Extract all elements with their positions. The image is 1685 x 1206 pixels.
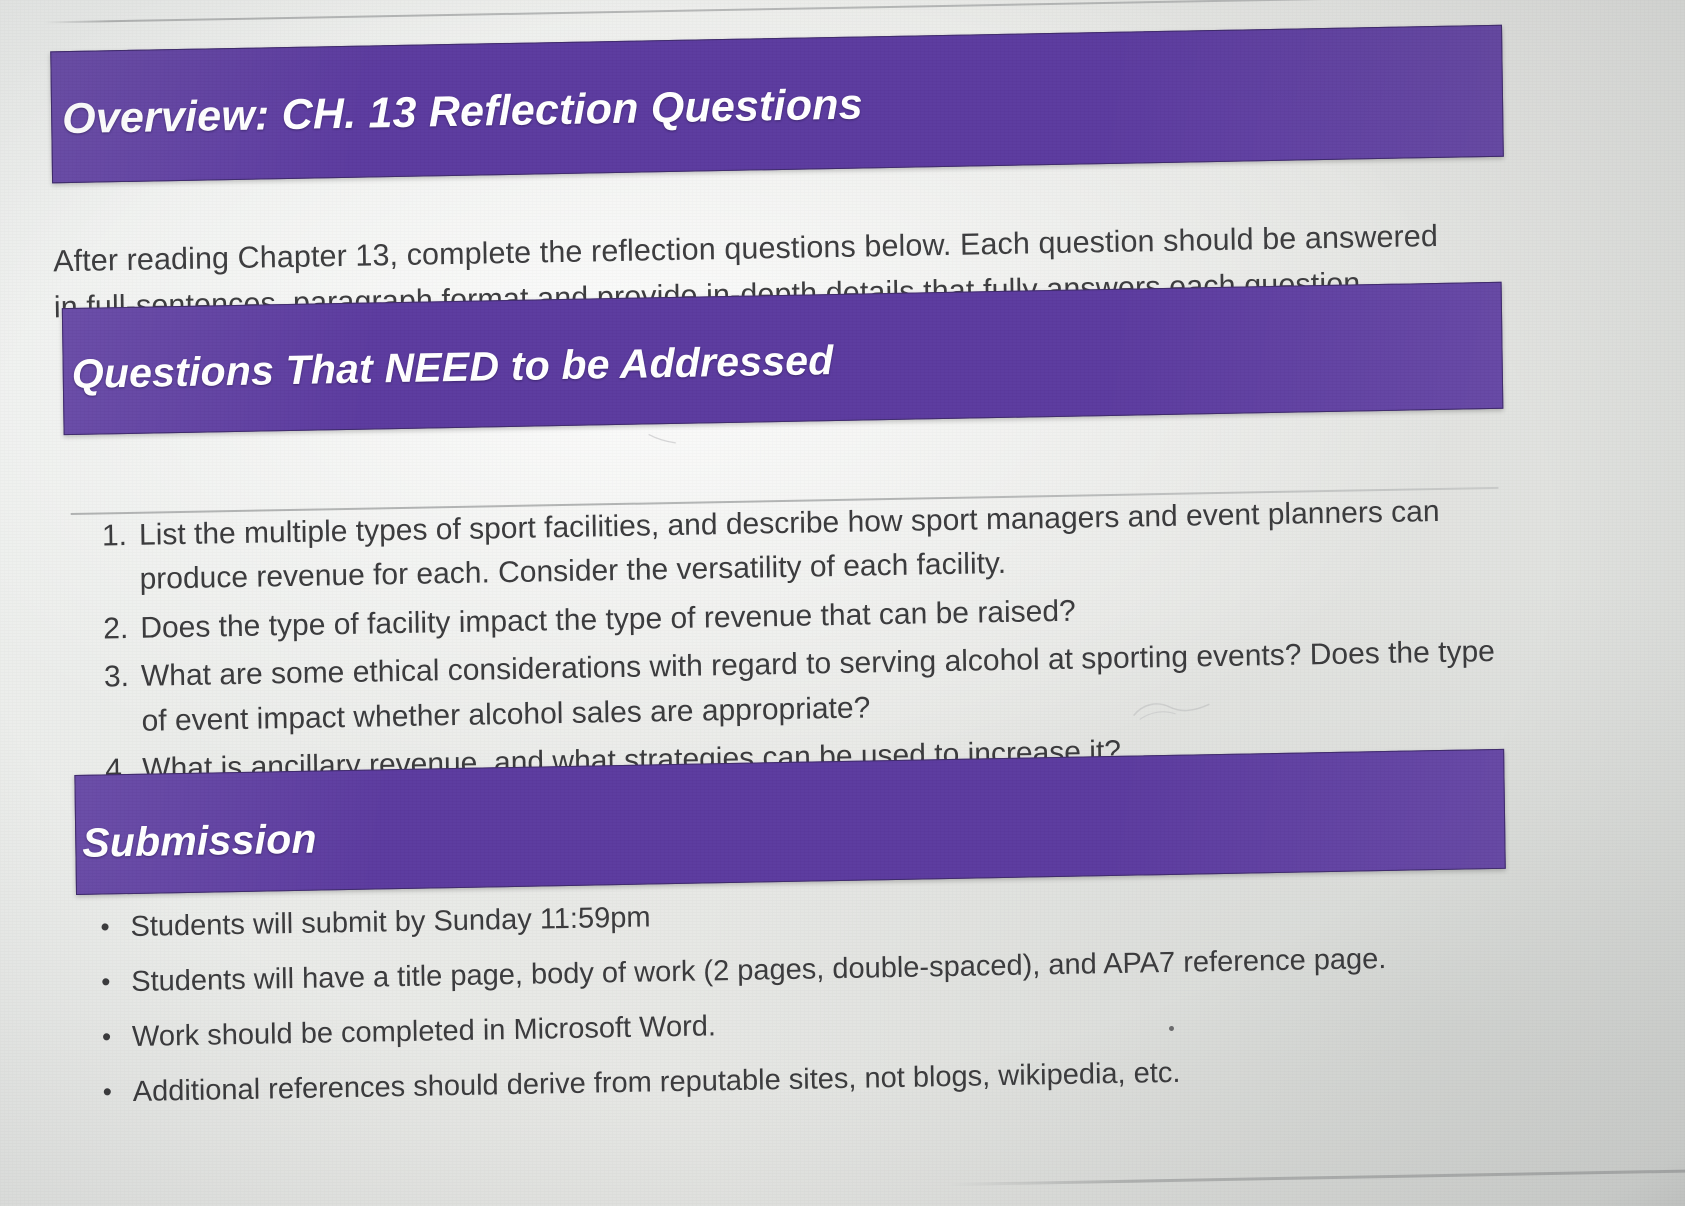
section-banner-overview: Overview: CH. 13 Reflection Questions <box>50 25 1504 184</box>
stray-dot-artifact <box>1169 1026 1174 1031</box>
bottom-edge-rule <box>948 1169 1685 1186</box>
bullet-icon: • <box>102 1016 133 1057</box>
submission-heading: Submission <box>76 815 317 866</box>
section-banner-questions: Questions That NEED to be Addressed <box>62 282 1504 435</box>
bullet-icon: • <box>101 961 132 1002</box>
top-edge-rule <box>44 0 1664 23</box>
question-number: 1. <box>83 514 138 559</box>
bullet-icon: • <box>102 1071 133 1112</box>
list-item: • Students will have a title page, body … <box>101 936 1501 1004</box>
list-item: • Additional references should derive fr… <box>102 1046 1502 1114</box>
bullet-icon: • <box>100 906 131 947</box>
reflection-question-list: 1. List the multiple types of sport faci… <box>83 489 1507 797</box>
submission-item-text: Students will have a title page, body of… <box>131 936 1501 1003</box>
photographed-screen: Overview: CH. 13 Reflection Questions Af… <box>0 0 1685 1206</box>
submission-requirements-list: • Students will submit by Sunday 11:59pm… <box>100 881 1503 1127</box>
section-banner-submission: Submission <box>74 749 1505 895</box>
questions-heading: Questions That NEED to be Addressed <box>63 337 833 398</box>
question-number: 3. <box>85 655 140 700</box>
question-number: 2. <box>84 607 139 652</box>
pen-mark-artifact <box>648 432 678 447</box>
document-plane: Overview: CH. 13 Reflection Questions Af… <box>0 0 1685 1206</box>
list-item: • Work should be completed in Microsoft … <box>102 991 1502 1059</box>
submission-item-text: Additional references should derive from… <box>132 1046 1502 1113</box>
submission-item-text: Students will submit by Sunday 11:59pm <box>130 881 1500 948</box>
overview-heading: Overview: CH. 13 Reflection Questions <box>52 80 863 144</box>
list-item: • Students will submit by Sunday 11:59pm <box>100 881 1500 949</box>
submission-item-text: Work should be completed in Microsoft Wo… <box>132 991 1502 1058</box>
